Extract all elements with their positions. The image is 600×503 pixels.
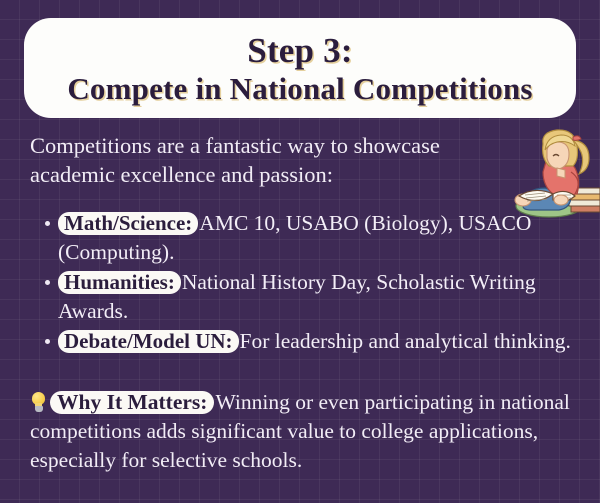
title-line-headline: Compete in National Competitions <box>67 73 532 106</box>
title-line-step: Step 3: <box>247 32 352 69</box>
why-it-matters-label-pill: Why It Matters: <box>50 391 214 414</box>
bullet-label-pill: Humanities: <box>58 271 181 294</box>
why-it-matters-block: Why It Matters:Winning or even participa… <box>30 388 586 475</box>
competition-bullet-list: Math/Science:AMC 10, USABO (Biology), US… <box>30 209 578 356</box>
lightbulb-icon <box>30 392 47 413</box>
bullet-dot-icon <box>45 221 50 226</box>
bullet-label-pill: Debate/Model UN: <box>58 330 239 353</box>
bullet-text: For leadership and analytical thinking. <box>240 329 571 353</box>
intro-paragraph: Competitions are a fantastic way to show… <box>30 131 500 189</box>
bullet-label-pill: Math/Science: <box>58 212 198 235</box>
bullet-dot-icon <box>45 339 50 344</box>
list-item: Math/Science:AMC 10, USABO (Biology), US… <box>30 209 600 267</box>
bullet-dot-icon <box>45 280 50 285</box>
slide-canvas: Step 3: Compete in National Competitions <box>0 0 600 503</box>
title-card: Step 3: Compete in National Competitions <box>24 18 576 118</box>
list-item: Humanities:National History Day, Scholas… <box>30 268 600 326</box>
body-content: Competitions are a fantastic way to show… <box>30 131 578 357</box>
list-item: Debate/Model UN:For leadership and analy… <box>30 327 600 356</box>
